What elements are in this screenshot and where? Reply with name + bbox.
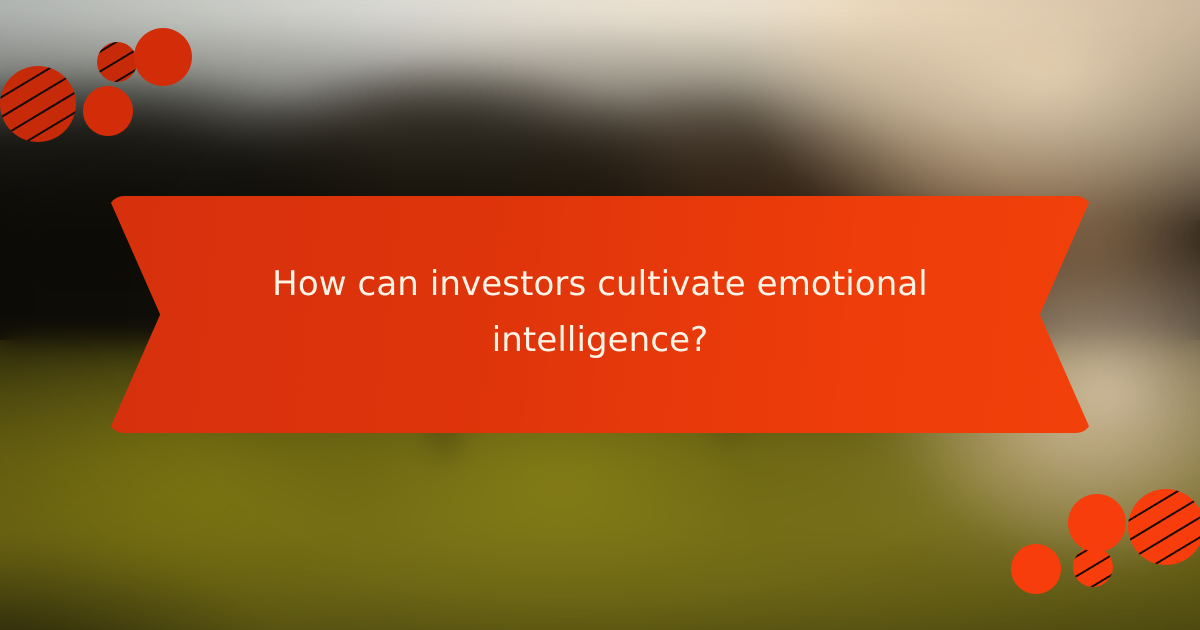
circle-stripe-pattern [1128, 489, 1200, 565]
circle-stripe-pattern [1073, 547, 1113, 587]
medium-plain-circle [83, 86, 133, 136]
circle-stripe-pattern [0, 66, 76, 142]
circle-stripe-pattern [97, 42, 137, 82]
medium-plain-circle [1011, 544, 1061, 594]
headline-text: How can investors cultivate emotional in… [250, 257, 950, 371]
large-striped-circle [1128, 489, 1200, 565]
large-striped-circle [0, 66, 76, 142]
headline-ribbon-banner: How can investors cultivate emotional in… [108, 196, 1092, 433]
small-striped-circle [97, 42, 137, 82]
large-plain-circle [134, 28, 192, 86]
quote-card-canvas: How can investors cultivate emotional in… [0, 0, 1200, 630]
small-striped-circle [1073, 547, 1113, 587]
large-plain-circle [1068, 494, 1126, 552]
